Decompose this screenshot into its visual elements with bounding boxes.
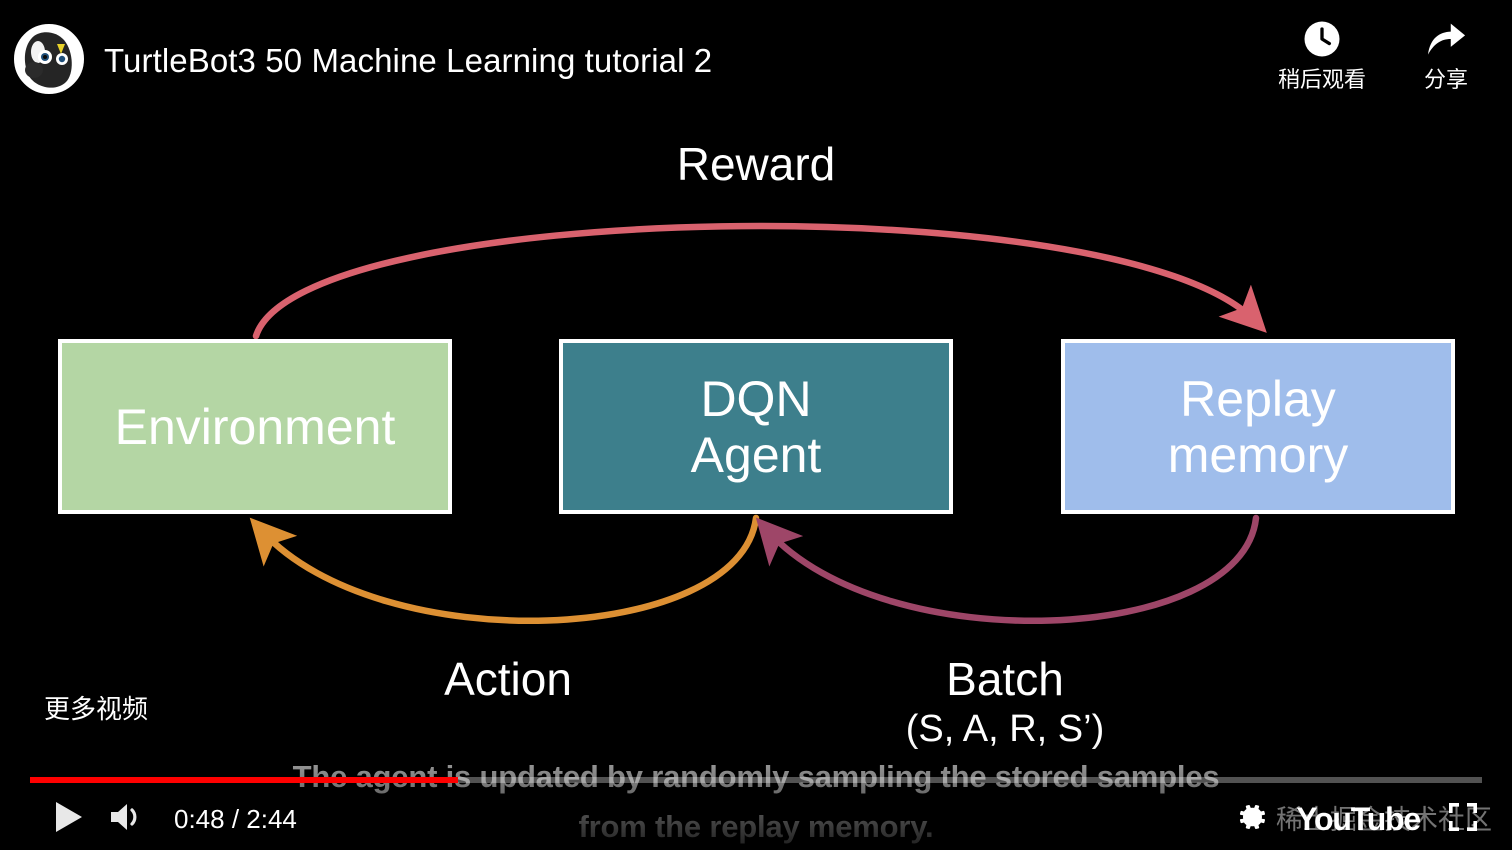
node-label-environment: Environment — [115, 399, 396, 455]
youtube-logo[interactable]: YouTube — [1290, 793, 1426, 845]
edge-label-reward: Reward — [0, 138, 1512, 190]
volume-icon — [108, 799, 146, 840]
diagram-node-replay-memory: Replay memory — [1061, 339, 1455, 514]
node-label-replay: Replay — [1180, 371, 1336, 427]
arrow-reward — [256, 226, 1254, 336]
edge-label-batch-main: Batch — [946, 653, 1064, 705]
share-arrow-icon — [1398, 18, 1494, 62]
youtube-video-player[interactable]: Environment DQN Agent Replay memory Rewa… — [0, 0, 1512, 850]
player-controls-right: YouTube — [1224, 793, 1492, 845]
play-icon — [52, 799, 86, 840]
clock-icon — [1274, 18, 1370, 62]
share-button[interactable]: 分享 — [1398, 18, 1494, 94]
diagram-node-dqn-agent: DQN Agent — [559, 339, 953, 514]
arrow-batch — [768, 518, 1256, 621]
gear-icon — [1237, 801, 1269, 838]
player-controls-left: 0:48 / 2:44 — [40, 793, 297, 845]
video-title: TurtleBot3 50 Machine Learning tutorial … — [104, 40, 712, 82]
node-label-agent: Agent — [691, 427, 822, 483]
progress-bar[interactable] — [30, 777, 1482, 783]
node-label-memory: memory — [1168, 427, 1349, 483]
channel-avatar[interactable] — [12, 22, 86, 96]
watch-later-label: 稍后观看 — [1274, 66, 1370, 94]
settings-button[interactable] — [1224, 793, 1282, 845]
fullscreen-button[interactable] — [1434, 793, 1492, 845]
volume-button[interactable] — [98, 793, 156, 845]
node-label-dqn: DQN — [700, 371, 811, 427]
top-actions: 稍后观看 分享 — [1274, 18, 1494, 94]
arrow-action — [262, 518, 756, 621]
play-button[interactable] — [40, 793, 98, 845]
more-videos-label[interactable]: 更多视频 — [44, 692, 148, 726]
edge-label-batch-sub: (S, A, R, S’) — [790, 705, 1220, 753]
fullscreen-icon — [1446, 800, 1480, 839]
player-header: TurtleBot3 50 Machine Learning tutorial … — [0, 0, 1512, 130]
channel-avatar-icon — [12, 22, 86, 96]
edge-label-batch: Batch (S, A, R, S’) — [790, 653, 1220, 753]
watch-later-button[interactable]: 稍后观看 — [1274, 18, 1370, 94]
time-display: 0:48 / 2:44 — [174, 793, 297, 845]
progress-played — [30, 777, 458, 783]
share-label: 分享 — [1398, 66, 1494, 94]
diagram-node-environment: Environment — [58, 339, 452, 514]
edge-label-action: Action — [300, 653, 716, 705]
